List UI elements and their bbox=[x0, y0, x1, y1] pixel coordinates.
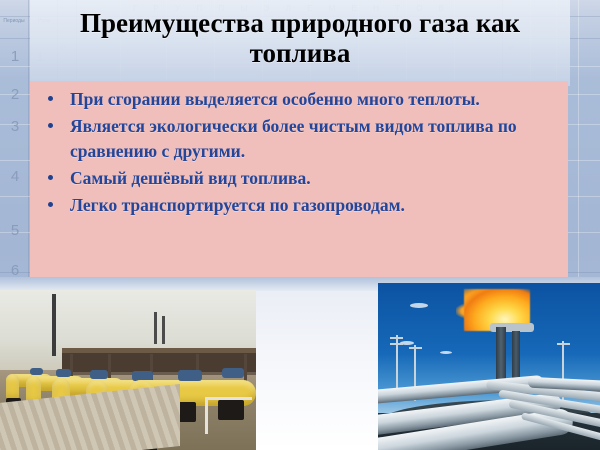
bullet-dot-icon bbox=[48, 123, 53, 128]
list-item-text: При сгорании выделяется особенно много т… bbox=[70, 89, 480, 109]
table-row-number: 5 bbox=[4, 222, 26, 239]
list-item: При сгорании выделяется особенно много т… bbox=[38, 87, 560, 112]
photo-gas-pipeline-station bbox=[0, 290, 256, 450]
list-item-text: Является экологически более чистым видом… bbox=[70, 116, 517, 161]
photo-gas-flare-pipelines bbox=[378, 283, 600, 450]
list-item-text: Самый дешёвый вид топлива. bbox=[70, 168, 311, 188]
table-row-number: 2 bbox=[4, 86, 26, 103]
bullet-dot-icon bbox=[48, 202, 53, 207]
bullet-dot-icon bbox=[48, 175, 53, 180]
table-row-number: 3 bbox=[4, 118, 26, 135]
presentation-slide: Г Р У П П Ы Э Л Е М Е Н Т О В Периоды Ря… bbox=[0, 0, 600, 450]
table-row-number: 4 bbox=[4, 168, 26, 185]
bullet-list: При сгорании выделяется особенно много т… bbox=[38, 87, 560, 220]
list-item: Самый дешёвый вид топлива. bbox=[38, 166, 560, 191]
column-header-periods: Периоды bbox=[0, 18, 28, 24]
list-item: Является экологически более чистым видом… bbox=[38, 114, 560, 164]
page-title: Преимущества природного газа как топлива bbox=[38, 8, 562, 68]
bullet-dot-icon bbox=[48, 96, 53, 101]
list-item-text: Легко транспортируется по газопроводам. bbox=[70, 195, 405, 215]
content-panel: При сгорании выделяется особенно много т… bbox=[30, 81, 568, 277]
table-row-number: 1 bbox=[4, 48, 26, 65]
list-item: Легко транспортируется по газопроводам. bbox=[38, 193, 560, 218]
